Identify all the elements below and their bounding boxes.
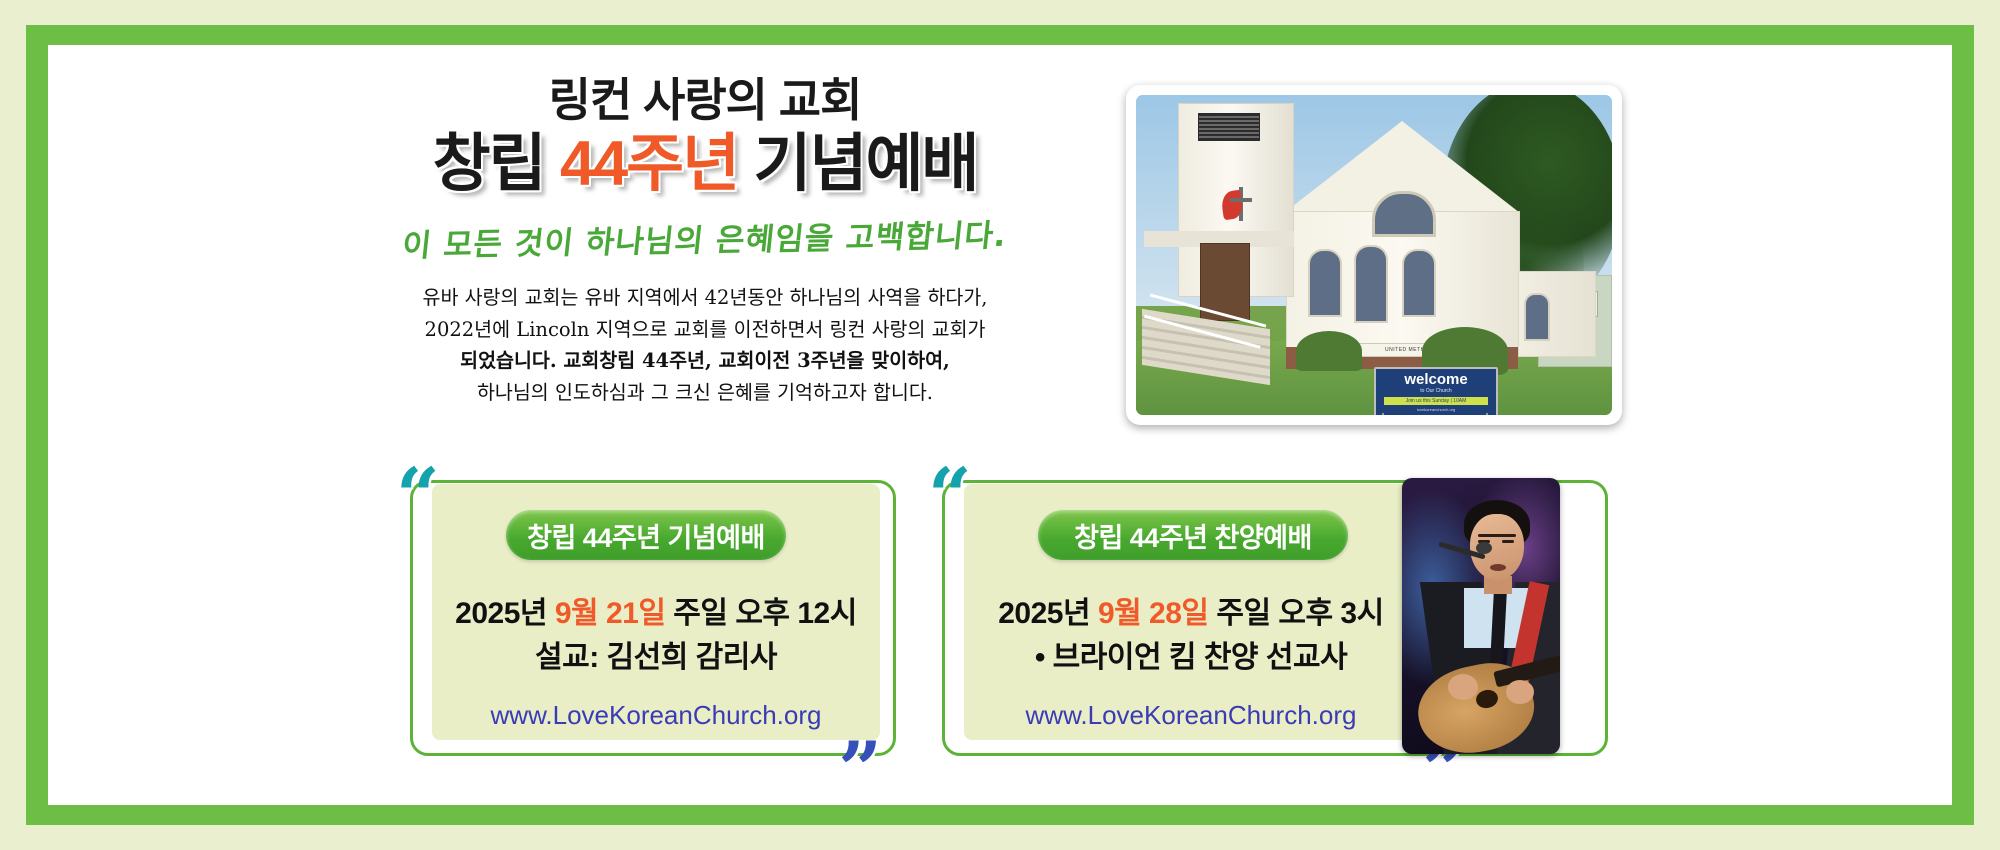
title-anniversary-highlight: 44주년 bbox=[560, 129, 738, 199]
page-title-line2: 창립 44주년 기념예배 bbox=[330, 129, 1080, 200]
page-title-line1: 링컨 사랑의 교회 bbox=[330, 75, 1080, 127]
eyebrows bbox=[1478, 534, 1516, 537]
card-right-date-post: 주일 오후 3시 bbox=[1209, 597, 1384, 630]
church-side-window bbox=[1524, 293, 1550, 341]
intro-paragraph: 유바 사랑의 교회는 유바 지역에서 42년동안 하나님의 사역을 하다가, 2… bbox=[330, 282, 1080, 408]
welcome-banner-subtitle: to Our Church bbox=[1420, 388, 1451, 394]
card-badge-right: 창립 44주년 찬양예배 bbox=[1038, 510, 1348, 560]
church-window-center bbox=[1354, 245, 1388, 323]
card-left-speaker: 설교: 김선희 감리사 bbox=[396, 632, 896, 676]
welcome-banner-url: lovekoreanchurch.org bbox=[1417, 407, 1455, 412]
eye-right bbox=[1502, 540, 1514, 543]
intro-line-3: 되었습니다. 교회창립 44주년, 교회이전 3주년을 맞이하여, bbox=[330, 345, 1080, 377]
poster-root: 링컨 사랑의 교회 창립 44주년 기념예배 이 모든 것이 하나님의 은혜임을… bbox=[0, 0, 2000, 850]
church-window-left bbox=[1308, 249, 1342, 317]
strumming-hand bbox=[1448, 674, 1478, 700]
intro-line-4: 하나님의 인도하심과 그 크신 은혜를 기억하고자 합니다. bbox=[330, 377, 1080, 409]
title-suffix: 기념예배 bbox=[738, 129, 977, 199]
praise-missionary-photo bbox=[1402, 478, 1560, 754]
cross-and-flame-icon bbox=[1228, 187, 1254, 221]
card-right-date-pre: 2025년 bbox=[998, 597, 1098, 630]
card-right-date-highlight: 9월 28일 bbox=[1098, 597, 1209, 630]
welcome-banner: welcome to Our Church Join us this Sunda… bbox=[1374, 367, 1498, 415]
service-card-praise: “ 창립 44주년 찬양예배 2025년 9월 28일 주일 오후 3시 • 브… bbox=[928, 470, 1608, 770]
welcome-banner-title: welcome bbox=[1404, 372, 1467, 387]
card-left-date-highlight: 9월 21일 bbox=[555, 597, 666, 630]
handwritten-subtitle: 이 모든 것이 하나님의 은혜임을 고백합니다. bbox=[327, 209, 1083, 267]
fretting-hand bbox=[1506, 680, 1534, 704]
card-left-website-link[interactable]: www.LoveKoreanChurch.org bbox=[396, 700, 896, 731]
service-card-memorial: “ 창립 44주년 기념예배 2025년 9월 21일 주일 오후 12시 설교… bbox=[396, 470, 896, 770]
banner-leg-right bbox=[1486, 413, 1488, 415]
microphone-icon bbox=[1476, 542, 1492, 554]
quote-close-icon: ” bbox=[838, 732, 882, 808]
banner-leg-left bbox=[1382, 413, 1384, 415]
intro-line-1: 유바 사랑의 교회는 유바 지역에서 42년동안 하나님의 사역을 하다가, bbox=[330, 282, 1080, 314]
header-block: 링컨 사랑의 교회 창립 44주년 기념예배 이 모든 것이 하나님의 은혜임을… bbox=[330, 75, 1080, 408]
church-window-right bbox=[1402, 249, 1436, 317]
intro-line-2: 2022년에 Lincoln 지역으로 교회를 이전하면서 링컨 사랑의 교회가 bbox=[330, 314, 1080, 346]
card-left-date-post: 주일 오후 12시 bbox=[665, 597, 856, 630]
hedge-left bbox=[1296, 331, 1362, 371]
title-prefix: 창립 bbox=[433, 129, 560, 199]
welcome-banner-service-time: Join us this Sunday | 10AM bbox=[1384, 397, 1487, 405]
church-photo-inner: UNITED METHODIST CHURCH welcome to Our C… bbox=[1136, 95, 1612, 415]
card-badge-left: 창립 44주년 기념예배 bbox=[506, 510, 786, 560]
mouth bbox=[1490, 564, 1506, 571]
necktie bbox=[1490, 590, 1507, 665]
church-arched-window-top bbox=[1372, 191, 1436, 237]
belfry-louver bbox=[1198, 113, 1260, 141]
quote-open-icon: “ bbox=[396, 458, 440, 534]
card-left-date-pre: 2025년 bbox=[455, 597, 555, 630]
church-building-photo: UNITED METHODIST CHURCH welcome to Our C… bbox=[1126, 85, 1622, 425]
quote-open-icon-right: “ bbox=[928, 458, 972, 534]
card-left-datetime: 2025년 9월 21일 주일 오후 12시 bbox=[396, 588, 896, 632]
